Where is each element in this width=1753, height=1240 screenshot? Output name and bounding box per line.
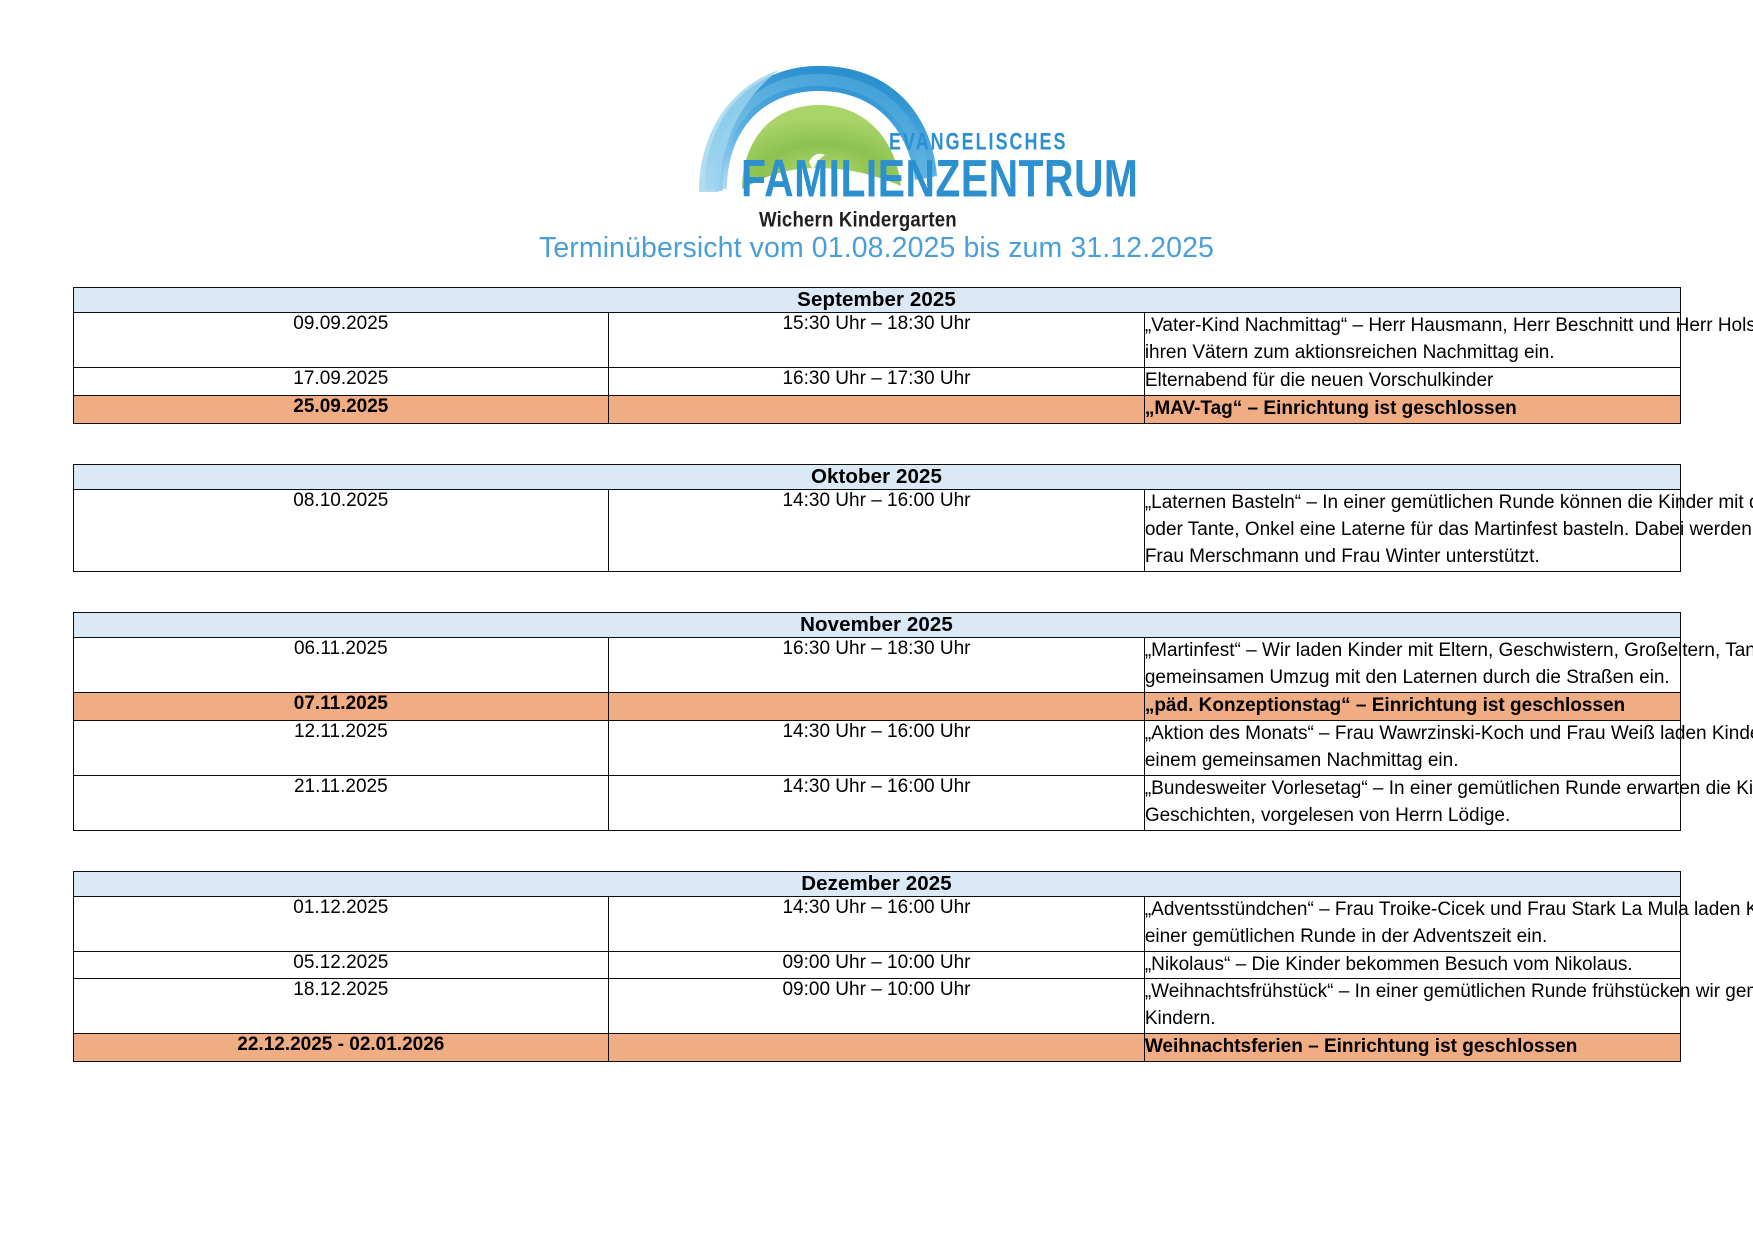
cell-description: „Laternen Basteln“ – In einer gemütliche… [1144, 489, 1680, 571]
cell-time [609, 692, 1145, 720]
cell-date: 09.09.2025 [73, 313, 609, 368]
description-line: oder Tante, Onkel eine Laterne für das M… [1145, 517, 1680, 544]
month-title: Dezember 2025 [73, 871, 1680, 896]
table-row: 18.12.202509:00 Uhr – 10:00 Uhr„Weihnach… [73, 979, 1680, 1034]
table-row: 06.11.202516:30 Uhr – 18:30 Uhr„Martinfe… [73, 637, 1680, 692]
description-line: Geschichten, vorgelesen von Herrn Lödige… [1145, 803, 1680, 830]
month-header-row: September 2025 [73, 288, 1680, 313]
month-table: Oktober 202508.10.202514:30 Uhr – 16:00 … [73, 464, 1681, 572]
month-title: Oktober 2025 [73, 464, 1680, 489]
month-table: September 202509.09.202515:30 Uhr – 18:3… [73, 287, 1681, 424]
logo-familienzentrum-text: FAMILIENZENTRUM [741, 154, 1138, 206]
month-title: November 2025 [73, 612, 1680, 637]
description-line: Weihnachtsferien – Einrichtung ist gesch… [1145, 1034, 1680, 1061]
cell-description: Weihnachtsferien – Einrichtung ist gesch… [1144, 1034, 1680, 1062]
table-row: 17.09.202516:30 Uhr – 17:30 UhrElternabe… [73, 367, 1680, 395]
schedule-tables: September 202509.09.202515:30 Uhr – 18:3… [73, 265, 1681, 1062]
cell-description: „Vater-Kind Nachmittag“ – Herr Hausmann,… [1144, 313, 1680, 368]
cell-date: 12.11.2025 [73, 720, 609, 775]
table-row: 12.11.202514:30 Uhr – 16:00 Uhr„Aktion d… [73, 720, 1680, 775]
table-row-closed: 22.12.2025 - 02.01.2026Weihnachtsferien … [73, 1034, 1680, 1062]
table-row: 09.09.202515:30 Uhr – 18:30 Uhr„Vater-Ki… [73, 313, 1680, 368]
description-line: „Martinfest“ – Wir laden Kinder mit Elte… [1145, 638, 1680, 665]
description-line: „Laternen Basteln“ – In einer gemütliche… [1145, 490, 1680, 517]
description-line: „päd. Konzeptionstag“ – Einrichtung ist … [1145, 693, 1680, 720]
table-row-closed: 25.09.2025„MAV-Tag“ – Einrichtung ist ge… [73, 395, 1680, 423]
cell-date: 06.11.2025 [73, 637, 609, 692]
month-title: September 2025 [73, 288, 1680, 313]
description-line: „Bundesweiter Vorlesetag“ – In einer gem… [1145, 776, 1680, 803]
cell-date: 01.12.2025 [73, 896, 609, 951]
table-row: 08.10.202514:30 Uhr – 16:00 Uhr„Laternen… [73, 489, 1680, 571]
cell-description: „Bundesweiter Vorlesetag“ – In einer gem… [1144, 775, 1680, 830]
cell-date: 18.12.2025 [73, 979, 609, 1034]
cell-description: „MAV-Tag“ – Einrichtung ist geschlossen [1144, 395, 1680, 423]
table-row: 21.11.202514:30 Uhr – 16:00 Uhr„Bundeswe… [73, 775, 1680, 830]
description-line: einem gemeinsamen Nachmittag ein. [1145, 748, 1680, 775]
cell-date: 25.09.2025 [73, 395, 609, 423]
month-table: Dezember 202501.12.202514:30 Uhr – 16:00… [73, 871, 1681, 1063]
cell-time [609, 1034, 1145, 1062]
description-line: ihren Vätern zum aktionsreichen Nachmitt… [1145, 340, 1680, 367]
cell-description: „Aktion des Monats“ – Frau Wawrzinski-Ko… [1144, 720, 1680, 775]
cell-time: 14:30 Uhr – 16:00 Uhr [609, 896, 1145, 951]
cell-description: „Martinfest“ – Wir laden Kinder mit Elte… [1144, 637, 1680, 692]
cell-time: 14:30 Uhr – 16:00 Uhr [609, 489, 1145, 571]
description-line: Frau Merschmann und Frau Winter unterstü… [1145, 544, 1680, 571]
cell-time: 16:30 Uhr – 17:30 Uhr [609, 367, 1145, 395]
table-row-closed: 07.11.2025„päd. Konzeptionstag“ – Einric… [73, 692, 1680, 720]
document-title: Terminübersicht vom 01.08.2025 bis zum 3… [0, 232, 1753, 265]
table-row: 01.12.202514:30 Uhr – 16:00 Uhr„Adventss… [73, 896, 1680, 951]
month-header-row: Oktober 2025 [73, 464, 1680, 489]
cell-description: Elternabend für die neuen Vorschulkinder [1144, 367, 1680, 395]
logo-wichern-kindergarten-text: Wichern Kindergarten [759, 208, 957, 233]
document-page: EVANGELISCHES FAMILIENZENTRUM Wichern Ki… [0, 0, 1753, 1240]
cell-time: 15:30 Uhr – 18:30 Uhr [609, 313, 1145, 368]
description-line: Elternabend für die neuen Vorschulkinder [1145, 368, 1680, 395]
cell-time: 14:30 Uhr – 16:00 Uhr [609, 720, 1145, 775]
description-line: „Nikolaus“ – Die Kinder bekommen Besuch … [1145, 952, 1680, 979]
cell-time: 09:00 Uhr – 10:00 Uhr [609, 951, 1145, 979]
cell-date: 05.12.2025 [73, 951, 609, 979]
month-header-row: Dezember 2025 [73, 871, 1680, 896]
cell-time: 16:30 Uhr – 18:30 Uhr [609, 637, 1145, 692]
logo-inner: EVANGELISCHES FAMILIENZENTRUM Wichern Ki… [697, 58, 1057, 228]
month-table: November 202506.11.202516:30 Uhr – 18:30… [73, 612, 1681, 831]
month-header-row: November 2025 [73, 612, 1680, 637]
cell-date: 08.10.2025 [73, 489, 609, 571]
description-line: „Vater-Kind Nachmittag“ – Herr Hausmann,… [1145, 313, 1680, 340]
cell-time: 14:30 Uhr – 16:00 Uhr [609, 775, 1145, 830]
description-line: gemeinsamen Umzug mit den Laternen durch… [1145, 665, 1680, 692]
table-row: 05.12.202509:00 Uhr – 10:00 Uhr„Nikolaus… [73, 951, 1680, 979]
cell-description: „Nikolaus“ – Die Kinder bekommen Besuch … [1144, 951, 1680, 979]
organization-logo: EVANGELISCHES FAMILIENZENTRUM Wichern Ki… [0, 0, 1753, 228]
cell-date: 21.11.2025 [73, 775, 609, 830]
description-line: „Weihnachtsfrühstück“ – In einer gemütli… [1145, 979, 1680, 1006]
description-line: „Adventsstündchen“ – Frau Troike-Cicek u… [1145, 897, 1680, 924]
cell-time [609, 395, 1145, 423]
cell-date: 22.12.2025 - 02.01.2026 [73, 1034, 609, 1062]
cell-time: 09:00 Uhr – 10:00 Uhr [609, 979, 1145, 1034]
description-line: Kindern. [1145, 1006, 1680, 1033]
description-line: „Aktion des Monats“ – Frau Wawrzinski-Ko… [1145, 721, 1680, 748]
cell-description: „Weihnachtsfrühstück“ – In einer gemütli… [1144, 979, 1680, 1034]
cell-date: 17.09.2025 [73, 367, 609, 395]
description-line: „MAV-Tag“ – Einrichtung ist geschlossen [1145, 396, 1680, 423]
cell-date: 07.11.2025 [73, 692, 609, 720]
cell-description: „Adventsstündchen“ – Frau Troike-Cicek u… [1144, 896, 1680, 951]
cell-description: „päd. Konzeptionstag“ – Einrichtung ist … [1144, 692, 1680, 720]
description-line: einer gemütlichen Runde in der Adventsze… [1145, 924, 1680, 951]
